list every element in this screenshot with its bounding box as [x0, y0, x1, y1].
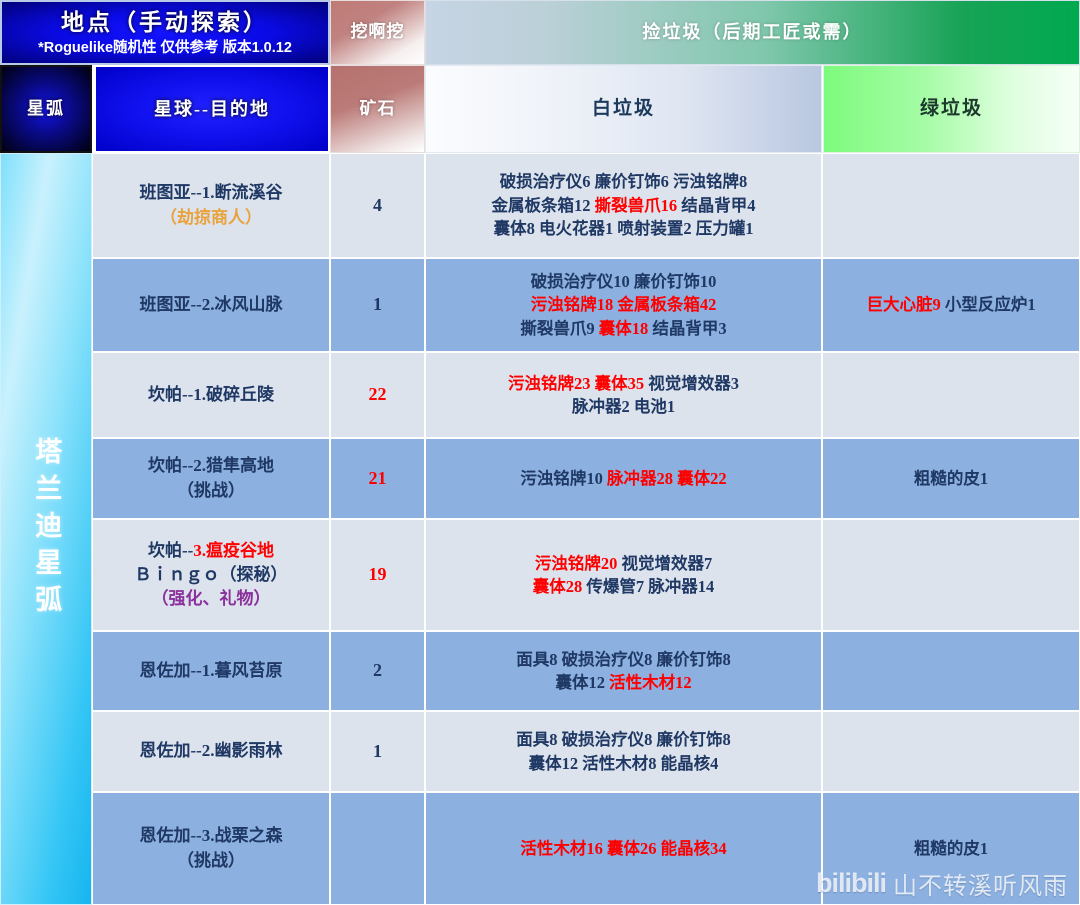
- cell-green-trash: 粗糙的皮1: [822, 438, 1080, 519]
- cell-green-trash: [822, 153, 1080, 258]
- planet-note: （挑战）: [177, 479, 245, 503]
- white-trash-line: 污浊铭牌20 视觉增效器7: [535, 552, 712, 575]
- cell-planet: 恩佐加--1.暮风苔原: [92, 631, 330, 711]
- cell-ore: [330, 792, 425, 905]
- header-dig: 挖啊挖: [330, 0, 425, 65]
- white-trash-line: 囊体12 活性木材12: [555, 671, 691, 694]
- cell-ore: 2: [330, 631, 425, 711]
- planet-name: 班图亚--2.冰风山脉: [139, 293, 282, 317]
- white-trash-line: 撕裂兽爪9 囊体18 结晶背甲3: [520, 317, 726, 340]
- cell-green-trash: [822, 631, 1080, 711]
- header-location-subtitle: *Roguelike随机性 仅供参考 版本1.0.12: [38, 39, 292, 59]
- cell-ore: 21: [330, 438, 425, 519]
- ore-value: 19: [369, 562, 387, 588]
- cell-white-trash: 污浊铭牌20 视觉增效器7囊体28 传爆管7 脉冲器14: [425, 519, 822, 631]
- column-header-green-trash: 绿垃圾: [823, 65, 1080, 153]
- column-header-white-trash: 白垃圾: [425, 65, 822, 153]
- cell-planet: 恩佐加--3.战栗之森（挑战）: [92, 792, 330, 905]
- table-row: 坎帕--1.破碎丘陵22污浊铭牌23 囊体35 视觉增效器3脉冲器2 电池1: [92, 352, 1080, 438]
- cell-white-trash: 破损治疗仪6 廉价钉饰6 污浊铭牌8金属板条箱12 撕裂兽爪16 结晶背甲4囊体…: [425, 153, 822, 258]
- cell-ore: 1: [330, 711, 425, 792]
- ore-value: 1: [373, 292, 382, 318]
- guide-table: 地点（手动探索） *Roguelike随机性 仅供参考 版本1.0.12 挖啊挖…: [0, 0, 1080, 905]
- white-trash-line: 破损治疗仪6 廉价钉饰6 污浊铭牌8: [500, 170, 748, 193]
- white-trash-line: 污浊铭牌18 金属板条箱42: [531, 293, 717, 316]
- cell-planet: 班图亚--2.冰风山脉: [92, 258, 330, 352]
- cell-white-trash: 污浊铭牌10 脉冲器28 囊体22: [425, 438, 822, 519]
- green-trash-line: 粗糙的皮1: [914, 837, 988, 860]
- green-trash-line: 粗糙的皮1: [914, 467, 988, 490]
- planet-note: （强化、礼物）: [152, 587, 271, 611]
- cell-white-trash: 活性木材16 囊体26 能晶核34: [425, 792, 822, 905]
- planet-name: 坎帕--1.破碎丘陵: [148, 383, 274, 407]
- header-location-title: 地点（手动探索）: [61, 7, 269, 38]
- cell-planet: 坎帕--1.破碎丘陵: [92, 352, 330, 438]
- green-trash-line: 巨大心脏9 小型反应炉1: [866, 293, 1035, 316]
- cell-ore: 1: [330, 258, 425, 352]
- table-row: 坎帕--3.瘟疫谷地Ｂｉｎｇｏ（探秘）（强化、礼物）19污浊铭牌20 视觉增效器…: [92, 519, 1080, 631]
- cell-ore: 22: [330, 352, 425, 438]
- planet-note: （劫掠商人）: [160, 206, 262, 230]
- planet-name: 恩佐加--1.暮风苔原: [139, 659, 282, 683]
- cell-ore: 19: [330, 519, 425, 631]
- ore-value: 22: [369, 382, 387, 408]
- cell-planet: 坎帕--3.瘟疫谷地Ｂｉｎｇｏ（探秘）（强化、礼物）: [92, 519, 330, 631]
- white-trash-line: 囊体28 传爆管7 脉冲器14: [533, 575, 715, 598]
- white-trash-line: 活性木材16 囊体26 能晶核34: [520, 837, 726, 860]
- planet-note: （挑战）: [177, 849, 245, 873]
- planet-name: 恩佐加--3.战栗之森: [139, 824, 282, 848]
- planet-name: 坎帕--3.瘟疫谷地: [148, 539, 274, 563]
- sidebar-arc-name: 塔兰迪星弧: [0, 153, 92, 905]
- cell-planet: 班图亚--1.断流溪谷（劫掠商人）: [92, 153, 330, 258]
- white-trash-line: 脉冲器2 电池1: [572, 395, 675, 418]
- white-trash-line: 面具8 破损治疗仪8 廉价钉饰8: [516, 728, 731, 751]
- white-trash-line: 金属板条箱12 撕裂兽爪16 结晶背甲4: [492, 194, 756, 217]
- white-trash-line: 囊体8 电火花器1 喷射装置2 压力罐1: [494, 217, 754, 240]
- table-row: 坎帕--2.猎隼高地（挑战）21污浊铭牌10 脉冲器28 囊体22粗糙的皮1: [92, 438, 1080, 519]
- cell-white-trash: 破损治疗仪10 廉价钉饰10污浊铭牌18 金属板条箱42撕裂兽爪9 囊体18 结…: [425, 258, 822, 352]
- cell-green-trash: [822, 519, 1080, 631]
- cell-white-trash: 污浊铭牌23 囊体35 视觉增效器3脉冲器2 电池1: [425, 352, 822, 438]
- table-row: 恩佐加--3.战栗之森（挑战）活性木材16 囊体26 能晶核34粗糙的皮1: [92, 792, 1080, 905]
- cell-green-trash: 巨大心脏9 小型反应炉1: [822, 258, 1080, 352]
- cell-white-trash: 面具8 破损治疗仪8 廉价钉饰8囊体12 活性木材8 能晶核4: [425, 711, 822, 792]
- header-location: 地点（手动探索） *Roguelike随机性 仅供参考 版本1.0.12: [0, 0, 330, 65]
- planet-name: 班图亚--1.断流溪谷: [139, 181, 282, 205]
- white-trash-line: 面具8 破损治疗仪8 廉价钉饰8: [516, 648, 731, 671]
- ore-value: 1: [373, 739, 382, 765]
- cell-green-trash: [822, 352, 1080, 438]
- column-header-ore: 矿石: [330, 65, 425, 153]
- table-row: 班图亚--2.冰风山脉1破损治疗仪10 廉价钉饰10污浊铭牌18 金属板条箱42…: [92, 258, 1080, 352]
- white-trash-line: 污浊铭牌23 囊体35 视觉增效器3: [508, 372, 739, 395]
- planet-subname: Ｂｉｎｇｏ（探秘）: [135, 563, 288, 587]
- column-header-planet: 星球--目的地: [94, 65, 330, 153]
- cell-planet: 恩佐加--2.幽影雨林: [92, 711, 330, 792]
- cell-white-trash: 面具8 破损治疗仪8 廉价钉饰8囊体12 活性木材12: [425, 631, 822, 711]
- planet-name: 坎帕--2.猎隼高地: [148, 454, 274, 478]
- table-row: 恩佐加--2.幽影雨林1面具8 破损治疗仪8 廉价钉饰8囊体12 活性木材8 能…: [92, 711, 1080, 792]
- cell-green-trash: 粗糙的皮1: [822, 792, 1080, 905]
- ore-value: 4: [373, 193, 382, 219]
- white-trash-line: 污浊铭牌10 脉冲器28 囊体22: [520, 467, 726, 490]
- planet-name: 恩佐加--2.幽影雨林: [139, 739, 282, 763]
- white-trash-line: 囊体12 活性木材8 能晶核4: [529, 752, 719, 775]
- table-row: 班图亚--1.断流溪谷（劫掠商人）4破损治疗仪6 廉价钉饰6 污浊铭牌8金属板条…: [92, 153, 1080, 258]
- white-trash-line: 破损治疗仪10 廉价钉饰10: [531, 270, 717, 293]
- cell-ore: 4: [330, 153, 425, 258]
- cell-green-trash: [822, 711, 1080, 792]
- header-scrap: 捡垃圾（后期工匠或需）: [425, 0, 1080, 65]
- table-row: 恩佐加--1.暮风苔原2面具8 破损治疗仪8 廉价钉饰8囊体12 活性木材12: [92, 631, 1080, 711]
- ore-value: 2: [373, 658, 382, 684]
- column-header-arc: 星弧: [0, 65, 92, 153]
- ore-value: 21: [369, 466, 387, 492]
- cell-planet: 坎帕--2.猎隼高地（挑战）: [92, 438, 330, 519]
